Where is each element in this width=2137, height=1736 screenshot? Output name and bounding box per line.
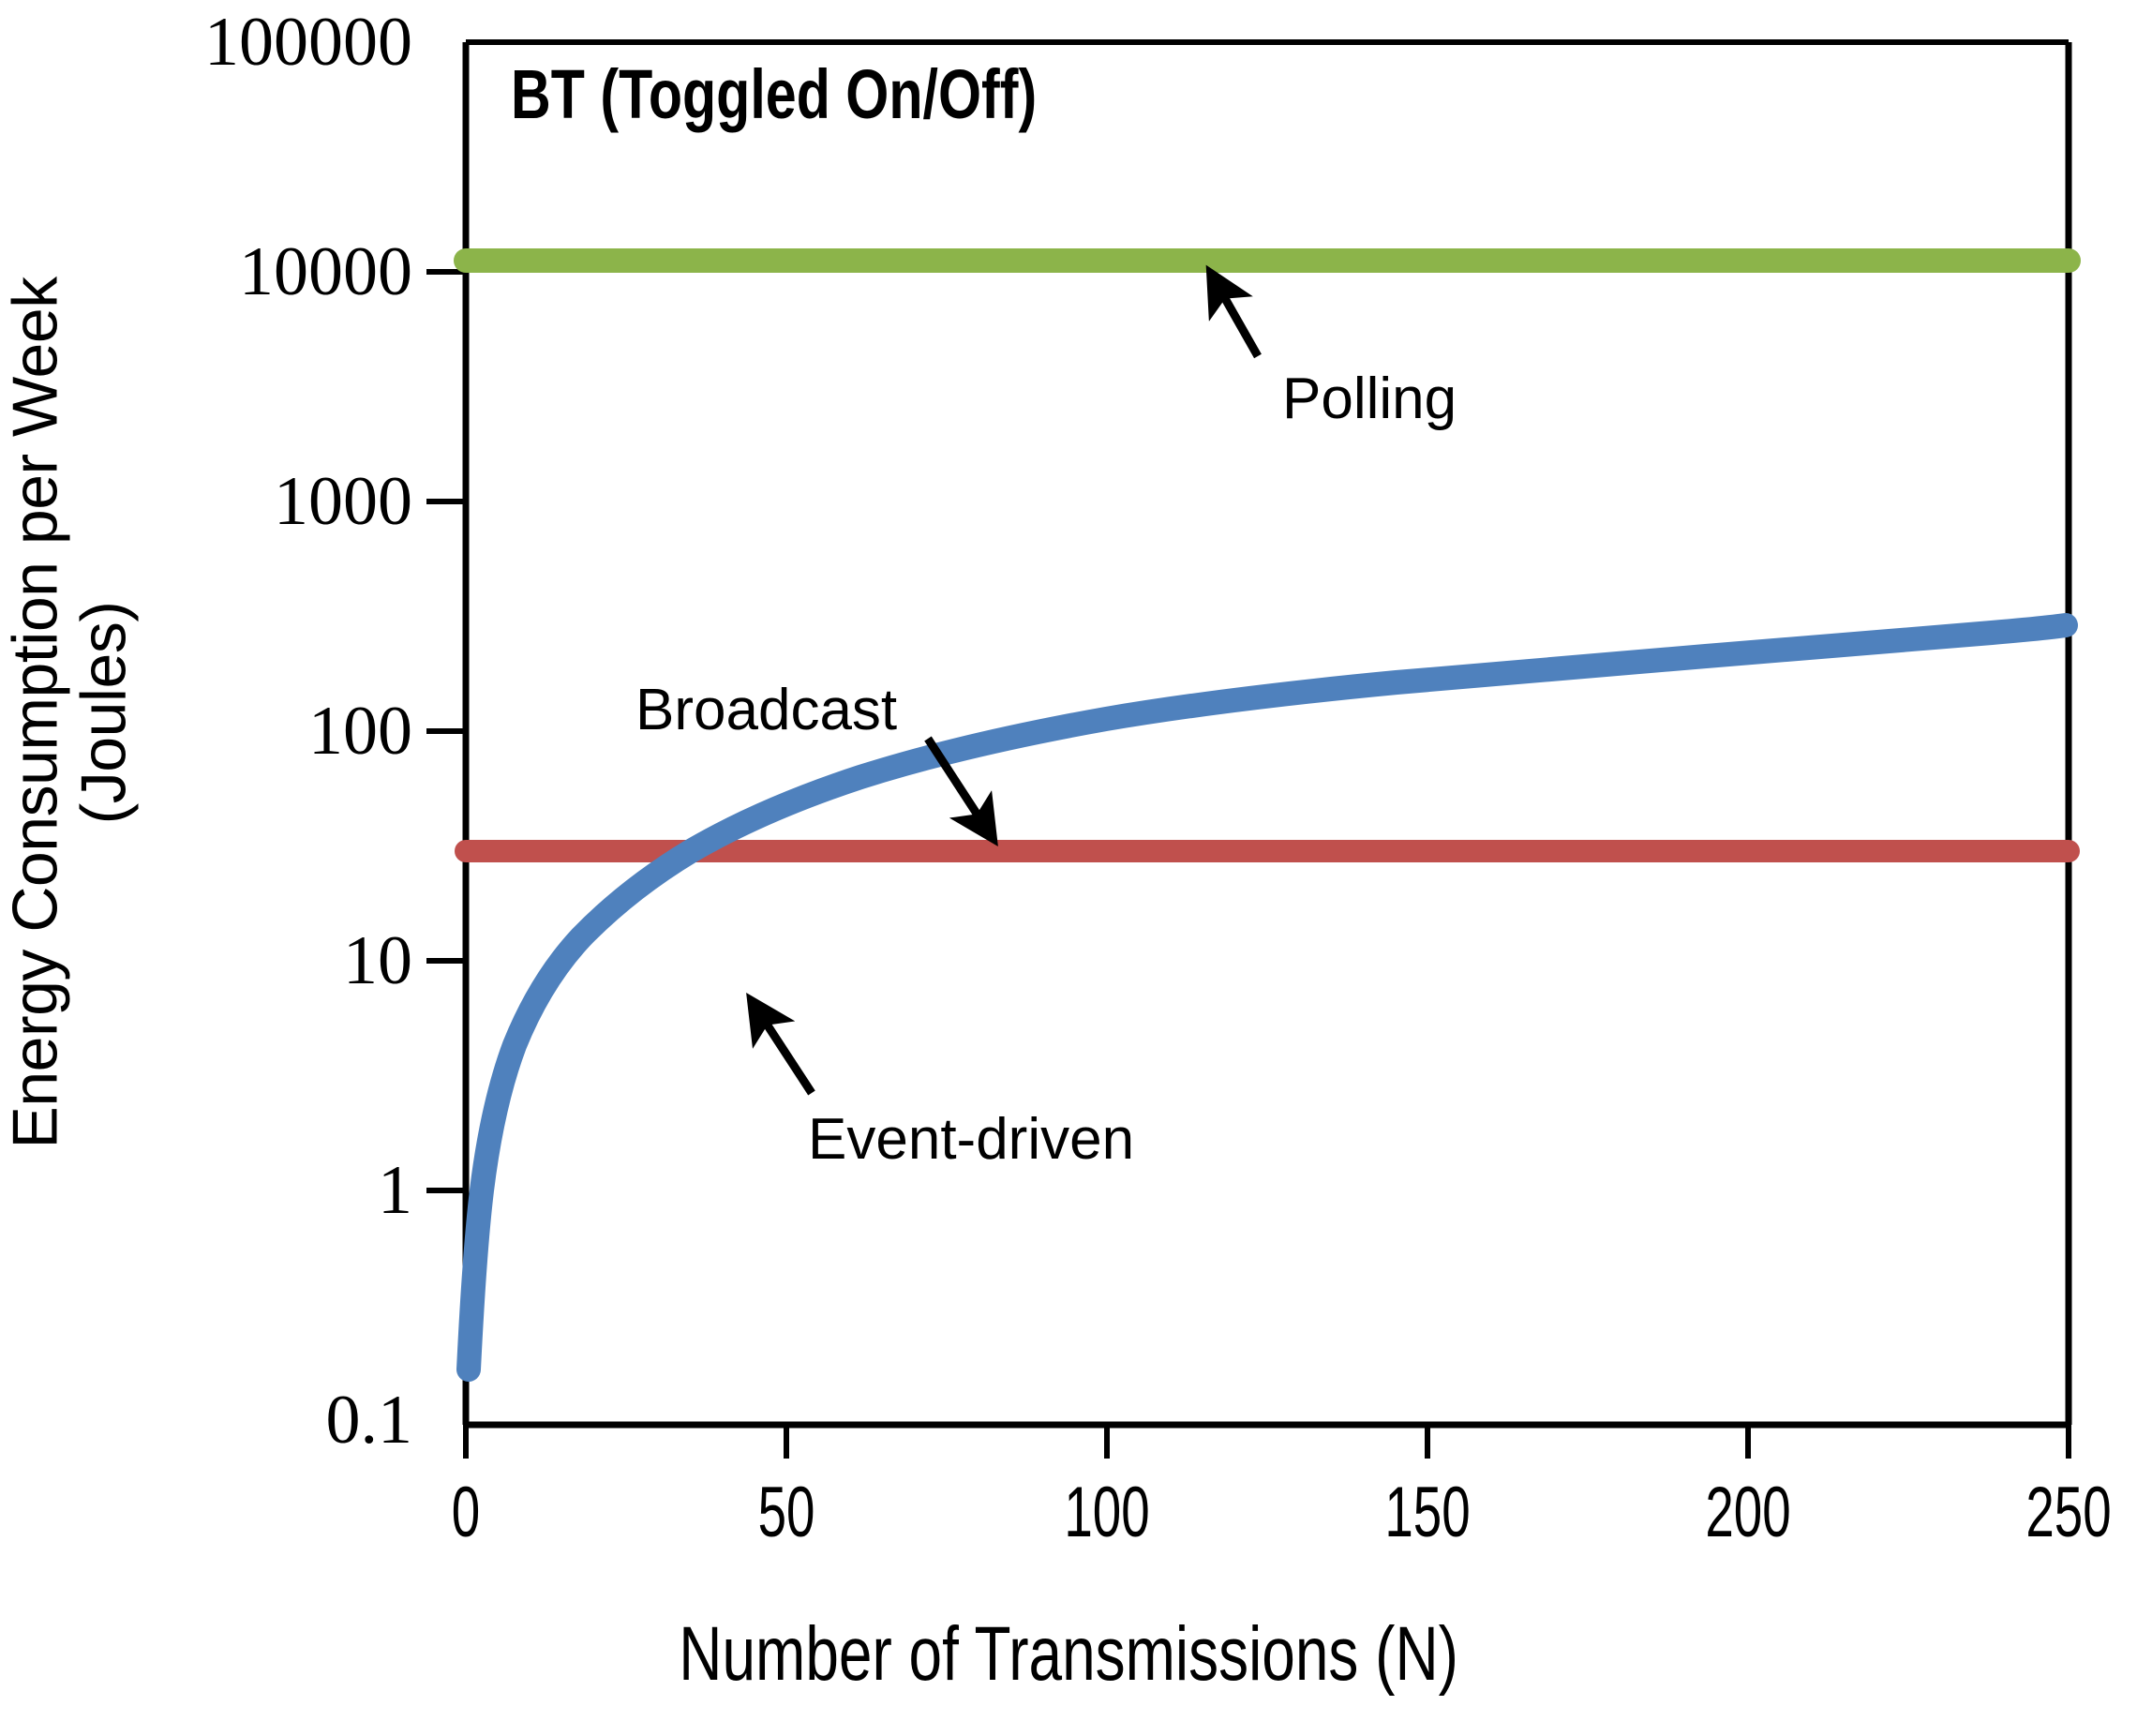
x-axis-ticks — [466, 1425, 2069, 1459]
chart-title: BT (Toggled On/Off) — [511, 54, 1168, 134]
x-tick-label-200: 200 — [1705, 1477, 1790, 1549]
x-tick-label-250: 250 — [2025, 1477, 2111, 1549]
chart-title-text: BT (Toggled On/Off) — [511, 54, 1037, 134]
annotation-label-broadcast: Broadcast — [635, 677, 897, 743]
y-axis-ticks — [426, 272, 466, 1190]
x-tick-label-100: 100 — [1064, 1477, 1149, 1549]
annotation-arrow-polling — [1211, 274, 1258, 356]
annotation-arrow-event-driven — [752, 1001, 812, 1093]
annotation-label-polling: Polling — [1282, 366, 1457, 432]
x-tick-label-0: 0 — [452, 1477, 480, 1549]
annotation-label-event-driven: Event-driven — [808, 1106, 1134, 1173]
x-tick-label-50: 50 — [758, 1477, 815, 1549]
chart-page: Energy Consumption per Week (Joules) 100… — [0, 0, 2137, 1736]
x-axis-title: Number of Transmissions (N) — [0, 1610, 2137, 1699]
x-tick-label-150: 150 — [1384, 1477, 1470, 1549]
x-axis-title-text: Number of Transmissions (N) — [679, 1610, 1458, 1699]
